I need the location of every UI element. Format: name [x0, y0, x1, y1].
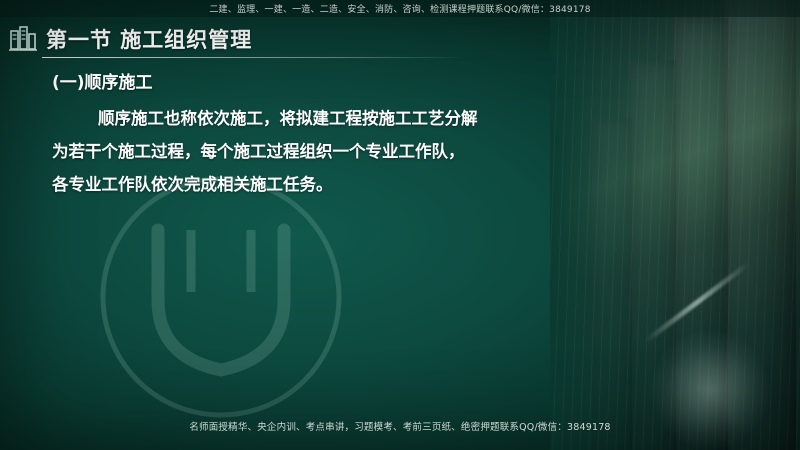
section-subheading: (一)顺序施工	[52, 68, 612, 98]
bottom-promo-text: 名师面授精华、央企内训、考点串讲，习题模考、考前三页纸、绝密押题联系QQ/微信：…	[189, 422, 610, 433]
paragraph-line-2: 为若干个施工过程，每个施工过程组织一个专业工作队，	[52, 142, 465, 161]
paragraph-line-3: 各专业工作队依次完成相关施工任务。	[52, 175, 333, 194]
title-divider	[42, 57, 466, 58]
paragraph-line-1: 顺序施工也称依次施工，将拟建工程按施工工艺分解	[98, 109, 478, 128]
slide-title-row: 第一节 施工组织管理	[0, 22, 800, 56]
building-logo-icon	[8, 24, 38, 54]
body-paragraph: 顺序施工也称依次施工，将拟建工程按施工工艺分解 为若干个施工过程，每个施工过程组…	[52, 102, 612, 201]
slide-body: (一)顺序施工 顺序施工也称依次施工，将拟建工程按施工工艺分解 为若干个施工过程…	[52, 68, 612, 201]
presentation-slide: 二建、监理、一建、一造、二造、安全、消防、咨询、检测课程押题联系QQ/微信：38…	[0, 0, 800, 450]
bottom-promo-banner: 名师面授精华、央企内训、考点串讲，习题模考、考前三页纸、绝密押题联系QQ/微信：…	[0, 415, 800, 434]
top-promo-banner: 二建、监理、一建、一造、二造、安全、消防、咨询、检测课程押题联系QQ/微信：38…	[0, 0, 800, 17]
top-promo-text: 二建、监理、一建、一造、二造、安全、消防、咨询、检测课程押题联系QQ/微信：38…	[209, 2, 590, 15]
page-title: 第一节 施工组织管理	[46, 24, 252, 54]
